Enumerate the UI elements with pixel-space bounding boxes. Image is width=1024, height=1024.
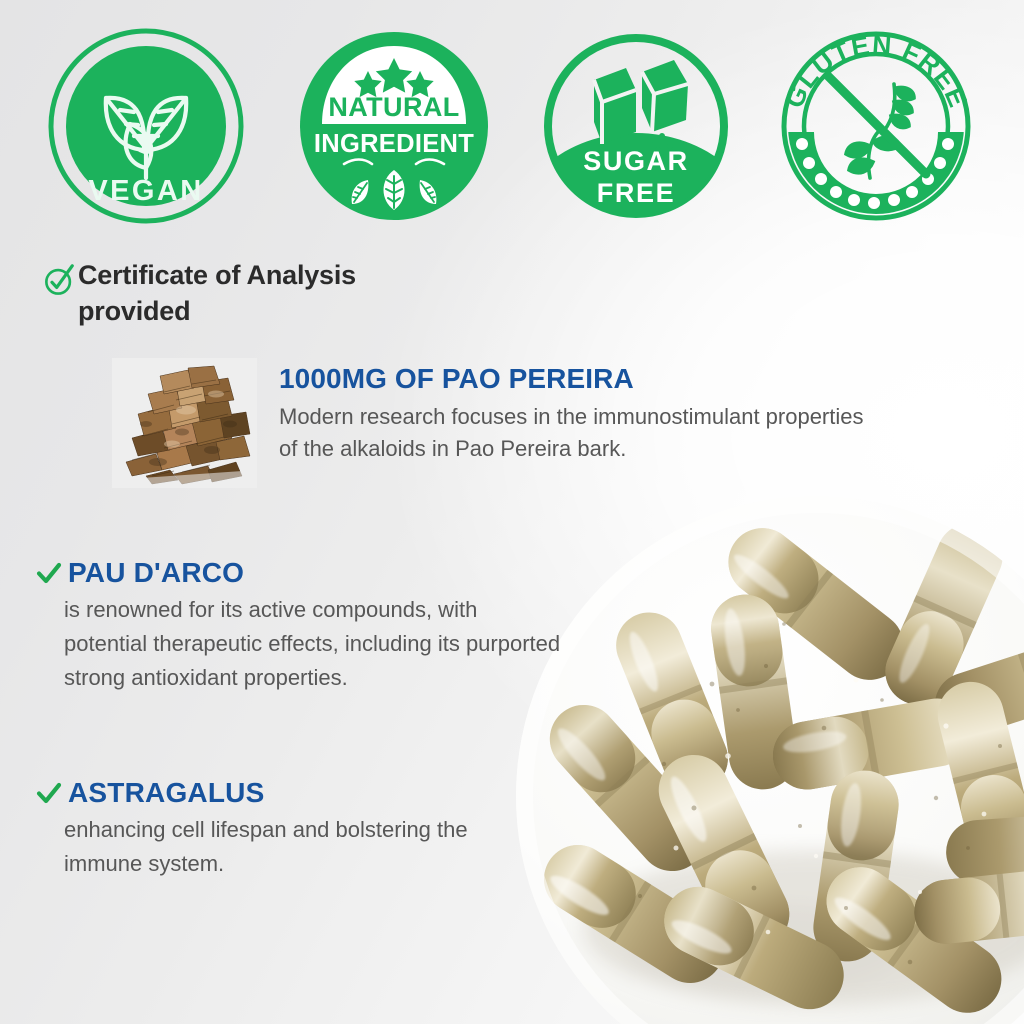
badge-natural-label-top: NATURAL (328, 92, 459, 122)
bark-chips-photo (112, 358, 257, 488)
pao-pereira-section: 1000MG OF PAO PEREIRA Modern research fo… (112, 358, 912, 488)
feature-astragalus-heading: ASTRAGALUS (36, 778, 536, 809)
certificate-label: Certificate of Analysis provided (78, 258, 408, 329)
badge-gluten-label: GLUTEN FREE (779, 30, 974, 113)
badge-gluten-label-path: GLUTEN FREE (779, 30, 974, 113)
badge-natural-label-bottom: INGREDIENT (314, 130, 474, 158)
circled-check-icon (44, 262, 76, 296)
feature-pau-darco-title: PAU D'ARCO (68, 558, 244, 589)
feature-pau-darco: PAU D'ARCO is renowned for its active co… (36, 558, 566, 695)
badge-sugar-free: SUGAR FREE (538, 28, 734, 224)
pao-pereira-body: Modern research focuses in the immunosti… (279, 401, 867, 465)
feature-astragalus: ASTRAGALUS enhancing cell lifespan and b… (36, 778, 536, 881)
badge-vegan-label: VEGAN (88, 175, 203, 207)
wheat-crossed-out-icon (828, 76, 926, 178)
badge-sugar-label-bottom: FREE (597, 178, 675, 208)
feature-astragalus-body: enhancing cell lifespan and bolstering t… (36, 813, 536, 881)
feature-pau-darco-heading: PAU D'ARCO (36, 558, 566, 589)
feature-astragalus-title: ASTRAGALUS (68, 778, 264, 809)
herbal-capsules-photo (516, 496, 1024, 1024)
feature-pau-darco-body: is renowned for its active compounds, wi… (36, 593, 566, 695)
check-icon (36, 780, 62, 806)
pao-pereira-title: 1000MG OF PAO PEREIRA (279, 364, 912, 395)
badge-vegan: VEGAN (48, 28, 244, 224)
infographic-canvas: VEGAN NATURAL INGREDIENT (0, 0, 1024, 1024)
certification-badge-row: VEGAN NATURAL INGREDIENT (0, 28, 1024, 233)
badge-sugar-label-top: SUGAR (583, 146, 689, 176)
certificate-of-analysis: Certificate of Analysis provided (44, 258, 604, 329)
check-icon (36, 560, 62, 586)
badge-natural-ingredient: NATURAL INGREDIENT (296, 28, 492, 224)
badge-gluten-free: GLUTEN FREE (778, 28, 974, 224)
pao-pereira-text: 1000MG OF PAO PEREIRA Modern research fo… (279, 358, 912, 465)
